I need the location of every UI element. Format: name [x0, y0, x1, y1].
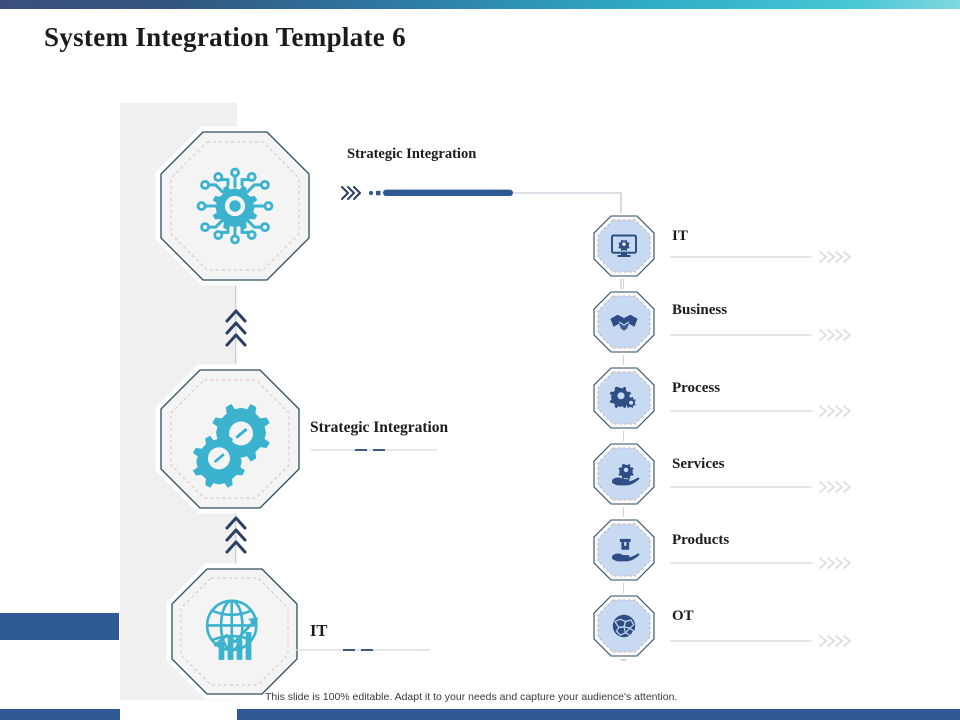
right-row-business[interactable]: Business	[592, 290, 922, 354]
right-rule-ot	[670, 634, 880, 648]
left-node-it[interactable]	[168, 565, 301, 698]
monitor-gear-icon	[609, 231, 639, 261]
hand-gear-icon	[609, 459, 639, 489]
right-label-ot: OT	[672, 608, 694, 625]
left-rule-2	[295, 645, 430, 655]
right-row-products[interactable]: Products	[592, 518, 922, 582]
top-gradient-bar	[0, 0, 960, 9]
right-row-process[interactable]: Process	[592, 366, 922, 430]
right-row-ot[interactable]: OT	[592, 594, 922, 658]
bottom-bar-right	[237, 709, 960, 720]
right-rule-process	[670, 404, 880, 418]
footer-note: This slide is 100% editable. Adapt it to…	[265, 691, 677, 703]
right-rule-business	[670, 328, 880, 342]
right-node-it[interactable]	[592, 214, 656, 278]
two-gears-icon	[184, 393, 276, 485]
triple-up-chevron-icon-1	[223, 305, 249, 351]
left-node-network[interactable]	[157, 128, 313, 284]
right-node-products[interactable]	[592, 518, 656, 582]
page-title: System Integration Template 6	[44, 22, 406, 53]
left-accent-bar	[0, 613, 119, 640]
right-column: IT	[592, 214, 922, 674]
globe-growth-chart-icon	[194, 591, 276, 673]
hand-box-icon	[609, 535, 639, 565]
right-rule-it	[670, 250, 880, 264]
right-node-ot[interactable]	[592, 594, 656, 658]
left-label-strategic-integration: Strategic Integration	[310, 419, 448, 437]
right-rule-services	[670, 480, 880, 494]
right-label-services: Services	[672, 456, 724, 473]
right-node-services[interactable]	[592, 442, 656, 506]
right-label-it: IT	[672, 228, 688, 245]
right-label-products: Products	[672, 532, 729, 549]
slide-canvas: System Integration Template 6	[0, 0, 960, 720]
left-label-it: IT	[310, 621, 327, 641]
right-label-process: Process	[672, 380, 720, 397]
right-node-process[interactable]	[592, 366, 656, 430]
header-connector-label: Strategic Integration	[347, 146, 476, 163]
right-label-business: Business	[672, 302, 727, 319]
bottom-bar-left	[0, 709, 120, 720]
left-node-gears[interactable]	[157, 366, 303, 512]
right-rule-products	[670, 556, 880, 570]
right-row-it[interactable]: IT	[592, 214, 922, 278]
network-gear-icon	[192, 163, 278, 249]
right-row-services[interactable]: Services	[592, 442, 922, 506]
left-rule-1	[311, 445, 437, 455]
right-node-business[interactable]	[592, 290, 656, 354]
triple-up-chevron-icon-2	[223, 512, 249, 558]
multi-gears-icon	[609, 383, 639, 413]
handshake-icon	[609, 307, 639, 337]
network-globe-icon	[609, 611, 639, 641]
